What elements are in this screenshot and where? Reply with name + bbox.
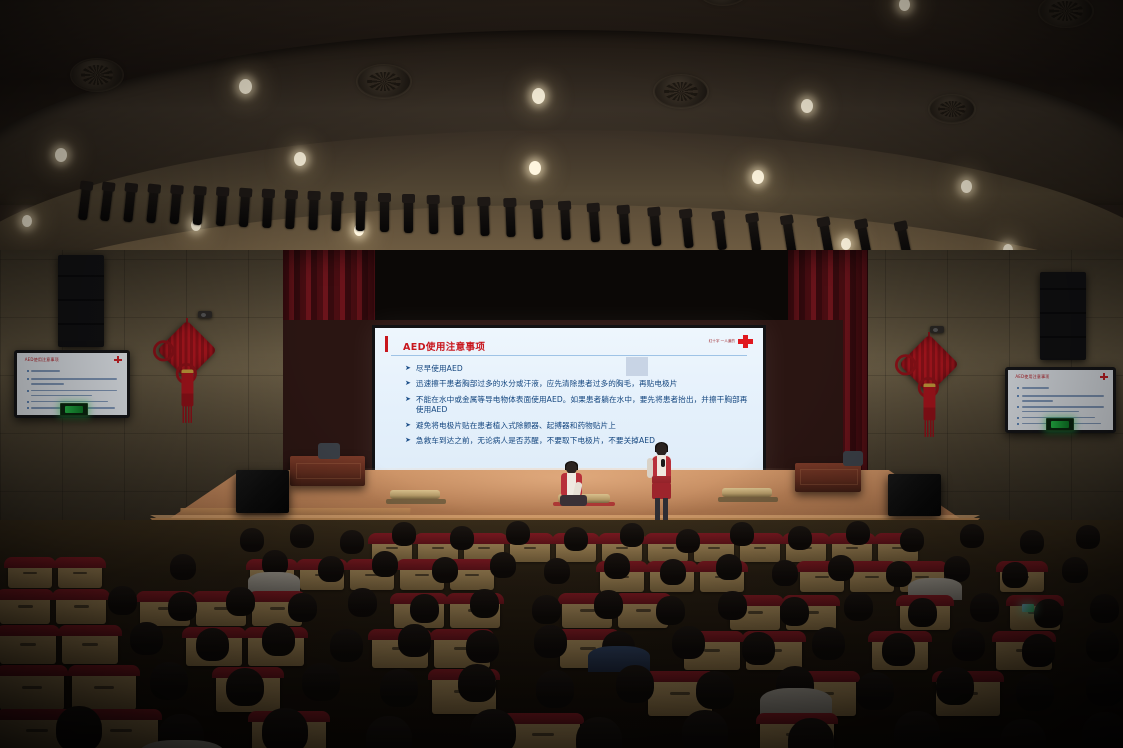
stage-spotlight <box>560 206 571 240</box>
audience-head <box>672 626 705 659</box>
stage-loudspeaker-left <box>236 470 289 513</box>
red-cross-icon <box>1100 373 1108 380</box>
audience-head <box>1086 629 1119 662</box>
audience-head <box>290 524 314 548</box>
ceiling-air-vent <box>655 76 707 107</box>
line-array-speaker-left <box>58 255 104 347</box>
stage-chair-right <box>843 451 863 466</box>
audience-head <box>656 596 685 625</box>
audience-head <box>682 710 728 748</box>
audience-head <box>392 522 416 546</box>
red-cross-icon <box>114 356 122 363</box>
audience-head <box>1022 634 1055 667</box>
slide-title-accent <box>385 336 388 352</box>
bullet-marker-icon: ➤ <box>405 379 411 389</box>
auditorium-seat[interactable] <box>8 560 52 588</box>
audience-head <box>1076 525 1100 549</box>
stage-loudspeaker-right <box>888 474 941 516</box>
audience-head <box>432 557 458 583</box>
audience-head <box>844 592 873 621</box>
recessed-downlight <box>801 99 813 113</box>
stage-spotlight <box>479 202 489 236</box>
bullet-text: 不能在水中或金属等导电物体表面使用AED。如果患者躺在水中，要先将患者抬出，并擦… <box>416 395 749 416</box>
audience-head <box>262 708 308 748</box>
stage-lighting-truss <box>80 168 1080 232</box>
audience-head <box>846 521 870 545</box>
stage-spotlight <box>193 191 205 226</box>
audience-head <box>226 668 264 706</box>
audience-head <box>340 530 364 554</box>
stage-spotlight <box>262 194 273 228</box>
audience-head <box>226 587 255 616</box>
bullet-marker-icon: ➤ <box>405 436 411 446</box>
bullet-text: 迅速擦干患者胸部过多的水分或汗液，应先清除患者过多的胸毛，再贴电极片 <box>416 379 678 389</box>
audience-head <box>262 623 295 656</box>
stage-spotlight <box>146 189 159 224</box>
auditorium-seat[interactable] <box>0 592 50 624</box>
ceiling-air-vent <box>358 66 410 97</box>
audience-head <box>730 522 754 546</box>
slide-title-rule <box>391 355 747 356</box>
audience-head <box>1062 557 1088 583</box>
cpr-mat <box>718 497 778 502</box>
audience-seating-area <box>0 520 1123 748</box>
audience-head <box>536 670 574 708</box>
bullet-text: 尽早使用AED <box>416 364 463 374</box>
cpr-training-manikin <box>390 490 440 499</box>
bullet-marker-icon: ➤ <box>405 421 411 431</box>
recessed-downlight <box>55 148 67 162</box>
right-monitor-title: AED使用注意事项 <box>1015 374 1049 380</box>
line-array-speaker-right <box>1040 272 1086 360</box>
stage-spotlight <box>650 212 662 247</box>
arm <box>647 458 653 478</box>
audience-head <box>366 716 412 748</box>
stage-spotlight <box>454 201 464 235</box>
slide-content: AED使用注意事项 红十字 一人道的 ➤ 尽早使用AED ➤ 迅速擦干患者胸部过… <box>375 328 763 480</box>
auditorium-seat[interactable] <box>62 628 118 664</box>
audience-head <box>660 559 686 585</box>
audience-head <box>1002 562 1028 588</box>
audience-head <box>900 528 924 552</box>
audience-head <box>1020 530 1044 554</box>
audience-head <box>318 556 344 582</box>
list-item: ➤ 急救车到达之前，无论病人是否苏醒，不要取下电极片，不要关掉AED <box>405 436 749 446</box>
audience-head <box>1082 712 1123 748</box>
audience-head <box>1086 668 1123 706</box>
stage-spotlight <box>356 197 366 231</box>
audience-head <box>466 630 499 663</box>
auditorium-scene: AED使用注意事项 AED使用注意事项 <box>0 0 1123 748</box>
audience-head <box>410 594 439 623</box>
audience-head <box>856 672 894 710</box>
list-item: ➤ 迅速擦干患者胸部过多的水分或汗液，应先清除患者过多的胸毛，再贴电极片 <box>405 379 749 389</box>
cpr-mat <box>386 499 446 504</box>
audience-head <box>718 591 747 620</box>
recessed-downlight <box>841 238 851 250</box>
audience-head <box>450 526 474 550</box>
audience-head <box>108 586 137 615</box>
left-monitor-title: AED使用注意事项 <box>25 357 59 363</box>
audience-head <box>532 595 561 624</box>
audience-head <box>470 709 516 748</box>
audience-head <box>936 667 974 705</box>
bullet-marker-icon: ➤ <box>405 364 411 374</box>
audience-head <box>1016 673 1054 711</box>
bullet-marker-icon: ➤ <box>405 395 411 416</box>
red-cross-icon <box>738 335 753 348</box>
audience-head <box>620 523 644 547</box>
audience-head <box>604 553 630 579</box>
audience-head <box>458 664 496 702</box>
stage-table-left <box>290 456 365 486</box>
audience-head <box>150 662 188 700</box>
list-item: ➤ 不能在水中或金属等导电物体表面使用AED。如果患者躺在水中，要先将患者抬出，… <box>405 395 749 416</box>
audience-head <box>970 593 999 622</box>
audience-head <box>56 706 102 748</box>
stage-spotlight <box>123 188 136 223</box>
recessed-downlight <box>22 215 32 227</box>
audience-head <box>716 554 742 580</box>
recessed-downlight <box>294 152 306 166</box>
audience-head <box>908 598 937 627</box>
audience-head <box>288 593 317 622</box>
audience-head <box>398 624 431 657</box>
stage-spotlight <box>100 187 113 222</box>
stage-spotlight <box>308 196 318 230</box>
red-cross-logo: 红十字 一人道的 <box>709 335 753 348</box>
audience-head <box>1000 719 1046 748</box>
audience-head <box>170 554 196 580</box>
skirt <box>652 483 671 499</box>
audience-head <box>960 524 984 548</box>
audience-head <box>302 663 340 701</box>
audience-head <box>506 521 530 545</box>
audience-head <box>594 590 623 619</box>
auditorium-seat[interactable] <box>72 668 136 710</box>
audience-head <box>812 627 845 660</box>
projection-screen[interactable]: AED使用注意事项 红十字 一人道的 ➤ 尽早使用AED ➤ 迅速擦干患者胸部过… <box>372 325 766 483</box>
stage-spotlight <box>78 186 91 221</box>
audience-head <box>616 665 654 703</box>
stage-spotlight <box>239 193 250 228</box>
slide-title: AED使用注意事项 <box>403 339 485 353</box>
stage-spotlight <box>505 203 515 237</box>
audience-head <box>380 669 418 707</box>
audience-head <box>894 711 940 748</box>
audience-head <box>348 588 377 617</box>
ceiling-air-vent <box>72 60 122 90</box>
audience-head <box>168 592 197 621</box>
audience-head <box>1090 594 1119 623</box>
stage-spotlight <box>532 205 543 239</box>
auditorium-seat[interactable] <box>58 560 102 588</box>
audience-head <box>696 671 734 709</box>
audience-head <box>772 560 798 586</box>
audience-head <box>372 551 398 577</box>
demonstrator-performing-cpr <box>556 462 590 510</box>
audience-head <box>1034 599 1063 628</box>
recessed-downlight <box>532 88 545 104</box>
exit-sign-left <box>60 403 88 416</box>
stage-spotlight <box>331 197 341 231</box>
slide-bullet-list: ➤ 尽早使用AED ➤ 迅速擦干患者胸部过多的水分或汗液，应先清除患者过多的胸毛… <box>405 364 749 452</box>
legs <box>560 495 587 506</box>
auditorium-seat[interactable] <box>56 592 106 624</box>
projector-right <box>930 326 944 333</box>
stage-spotlight <box>380 198 389 232</box>
list-item: ➤ 尽早使用AED <box>405 364 749 374</box>
stage-spotlight <box>619 210 630 245</box>
audience-head <box>470 589 499 618</box>
audience-head <box>788 526 812 550</box>
glowing-phone-screen <box>1022 604 1034 612</box>
bullet-text: 急救车到达之前，无论病人是否苏醒，不要取下电极片，不要关掉AED <box>416 436 655 446</box>
microphone-icon <box>661 459 665 467</box>
instructor-with-microphone <box>648 443 674 528</box>
recessed-downlight <box>239 79 252 94</box>
audience-head <box>330 629 363 662</box>
audience-head <box>828 555 854 581</box>
audience-head <box>564 527 588 551</box>
audience-head <box>544 558 570 584</box>
audience-head <box>882 633 915 666</box>
stage-table-right <box>795 463 861 492</box>
list-item: ➤ 避免将电极片贴在患者植入式除颤器、起搏器和药物贴片上 <box>405 421 749 431</box>
stage-spotlight <box>404 199 413 233</box>
audience-head <box>490 552 516 578</box>
audience-head <box>240 528 264 552</box>
stage-spotlight <box>429 200 439 234</box>
cpr-training-manikin <box>722 488 772 497</box>
exit-sign-right <box>1046 418 1074 431</box>
audience-head <box>196 628 229 661</box>
auditorium-seat[interactable] <box>0 668 64 710</box>
projector-left <box>198 311 212 318</box>
logo-text-line1: 红十字 一人道的 <box>709 339 735 343</box>
audience-head <box>676 529 700 553</box>
bullet-text: 避免将电极片贴在患者植入式除颤器、起搏器和药物贴片上 <box>416 421 616 431</box>
ceiling-air-vent <box>930 96 974 122</box>
audience-head <box>952 628 985 661</box>
audience-head <box>130 622 163 655</box>
stage-chair-left <box>318 443 340 459</box>
stage-spotlight <box>589 208 600 243</box>
stage-spotlight <box>170 190 182 225</box>
auditorium-seat[interactable] <box>0 628 56 664</box>
auditorium-seat[interactable] <box>506 716 580 748</box>
stage-spotlight <box>285 195 296 229</box>
audience-head <box>534 625 567 658</box>
audience-head <box>576 717 622 748</box>
stage-spotlight <box>216 192 227 227</box>
audience-head <box>780 597 809 626</box>
audience-head <box>742 632 775 665</box>
